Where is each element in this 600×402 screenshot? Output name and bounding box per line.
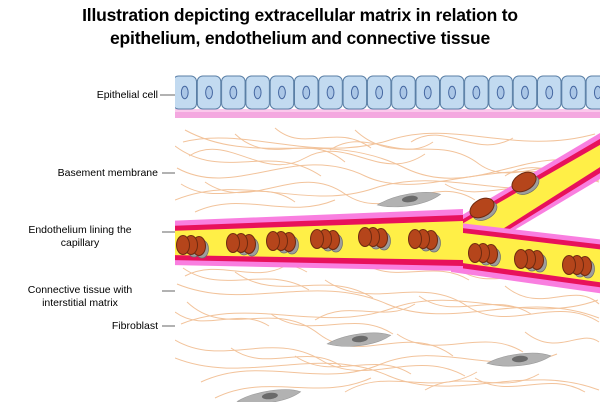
epithelial-cell-nucleus [181, 86, 188, 98]
label-endothelium: Endothelium lining the capillary [2, 224, 158, 249]
epithelial-cell-nucleus [473, 86, 480, 98]
epithelial-cell-nucleus [449, 86, 456, 98]
epithelial-cell-nucleus [497, 86, 504, 98]
rbc-cluster-4 [311, 230, 343, 253]
illustration-panel [175, 72, 600, 402]
rbc-cluster-1 [177, 236, 209, 259]
epithelial-cell-nucleus [351, 86, 358, 98]
epithelial-cell-nucleus [327, 86, 334, 98]
rbc-cluster-9 [563, 256, 595, 279]
epithelial-cell-nucleus [230, 86, 237, 98]
epithelial-cell-layer [175, 76, 600, 109]
label-epithelial-cell: Epithelial cell [46, 89, 158, 102]
epithelial-cell-nucleus [570, 86, 577, 98]
title-line-1: Illustration depicting extracellular mat… [82, 5, 518, 25]
epithelial-cell-nucleus [206, 86, 213, 98]
rbc-cluster-6 [409, 230, 441, 253]
label-connective-tissue: Connective tissue with interstitial matr… [2, 284, 158, 309]
title-line-2: epithelium, endothelium and connective t… [0, 27, 600, 50]
epithelial-cell-nucleus [254, 86, 261, 98]
epithelial-cell-nucleus [376, 86, 383, 98]
rbc-cluster-3 [267, 232, 299, 255]
rbc-cluster-2 [227, 234, 259, 257]
epithelial-cell-nucleus [594, 86, 600, 98]
epithelial-cell-nucleus [522, 86, 529, 98]
label-fibroblast: Fibroblast [60, 320, 158, 333]
epithelial-cell-nucleus [546, 86, 553, 98]
epithelial-cell-nucleus [424, 86, 431, 98]
epithelial-cell-nucleus [400, 86, 407, 98]
rbc-cluster-8 [515, 250, 547, 273]
page-title: Illustration depicting extracellular mat… [0, 0, 600, 50]
epithelial-cell-nucleus [279, 86, 286, 98]
label-basement-membrane: Basement membrane [2, 167, 158, 180]
rbc-cluster-7 [469, 244, 501, 267]
rbc-cluster-5 [359, 228, 391, 251]
epithelial-cell-nucleus [303, 86, 310, 98]
